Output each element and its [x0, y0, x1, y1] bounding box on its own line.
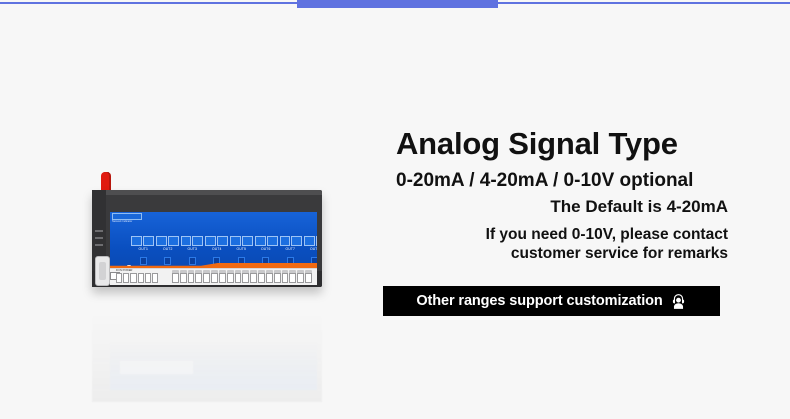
- status-led-1: [95, 230, 103, 232]
- terminal-pin: [258, 273, 265, 283]
- terminal-pin: [274, 273, 281, 283]
- output-label: OUT8: [303, 247, 318, 252]
- terminal-band: DI IN POWER: [110, 268, 317, 285]
- output-label: OUT6: [254, 247, 279, 252]
- customer-service-agent-icon: [670, 293, 687, 310]
- output-label-row: OUT1 OUT2 OUT3 OUT4 OUT5 OUT6 OUT7 OUT8: [131, 247, 317, 252]
- relay-terminal-pair: [131, 236, 154, 246]
- terminal-pin: [250, 273, 257, 283]
- terminal-pin: [116, 273, 122, 283]
- contact-note-line-1: If you need 0-10V, please contact: [383, 225, 728, 244]
- output-label: OUT3: [180, 247, 205, 252]
- relay-terminal-pair: [156, 236, 179, 246]
- relay-terminal-pair: [230, 236, 253, 246]
- relay-terminal: [304, 236, 315, 246]
- output-label: OUT4: [205, 247, 230, 252]
- output-label: OUT2: [156, 247, 181, 252]
- relay-terminal: [192, 236, 203, 246]
- io-terminal-row: [172, 273, 312, 283]
- power-terminal-group: [116, 273, 158, 283]
- status-led-3: [95, 244, 103, 246]
- device-reflection: [92, 310, 322, 402]
- page-title: Analog Signal Type: [383, 126, 728, 162]
- relay-terminal-pair: [181, 236, 204, 246]
- relay-terminal: [242, 236, 253, 246]
- relay-terminal-pair: [255, 236, 278, 246]
- signal-options-line: 0-20mA / 4-20mA / 0-10V optional: [383, 168, 728, 194]
- relay-terminal: [143, 236, 154, 246]
- terminal-pin: [242, 273, 249, 283]
- terminal-pin: [130, 273, 136, 283]
- terminal-pin: [152, 273, 158, 283]
- device-chassis: Network Indicator OUT1 OUT2: [92, 190, 322, 287]
- output-label: OUT5: [229, 247, 254, 252]
- relay-terminal: [280, 236, 291, 246]
- relay-terminal: [217, 236, 228, 246]
- relay-led: [140, 257, 147, 265]
- product-photo: Network Indicator OUT1 OUT2: [0, 20, 395, 419]
- top-accent-rule-segment: [297, 0, 498, 8]
- product-feature-banner: Network Indicator OUT1 OUT2: [0, 0, 790, 419]
- relay-terminal-pair: [304, 236, 317, 246]
- terminal-pin: [195, 273, 202, 283]
- device-faceplate: Network Indicator OUT1 OUT2: [110, 212, 317, 268]
- relay-terminal: [316, 236, 317, 246]
- antenna-icon: [101, 172, 111, 192]
- chassis-top-bevel: [92, 190, 322, 195]
- relay-terminal: [181, 236, 192, 246]
- terminal-pin: [297, 273, 304, 283]
- terminal-pin: [235, 273, 242, 283]
- relay-terminal-pair: [205, 236, 228, 246]
- relay-terminal: [205, 236, 216, 246]
- relay-terminal-pair: [280, 236, 303, 246]
- db9-serial-port: [95, 256, 110, 286]
- relay-terminal: [291, 236, 302, 246]
- device-module: Network Indicator OUT1 OUT2: [92, 172, 322, 287]
- relay-terminal: [156, 236, 167, 246]
- customization-banner: Other ranges support customization: [383, 286, 720, 316]
- customization-banner-label: Other ranges support customization: [416, 293, 662, 309]
- relay-led: [189, 257, 196, 265]
- terminal-pin: [305, 273, 312, 283]
- terminal-left-label: DI IN POWER: [116, 269, 132, 272]
- terminal-pin: [138, 273, 144, 283]
- relay-terminal: [230, 236, 241, 246]
- terminal-pin: [289, 273, 296, 283]
- relay-led: [164, 257, 171, 265]
- output-label: OUT7: [278, 247, 303, 252]
- status-led-2: [95, 237, 103, 239]
- terminal-pin: [227, 273, 234, 283]
- network-indicator-strip: [112, 213, 142, 220]
- terminal-pin: [219, 273, 226, 283]
- terminal-pin: [203, 273, 210, 283]
- terminal-pin: [145, 273, 151, 283]
- terminal-pin: [172, 273, 179, 283]
- output-label: OUT1: [131, 247, 156, 252]
- relay-terminal: [255, 236, 266, 246]
- reflection-model-badge: [120, 361, 193, 374]
- relay-terminal-row: [131, 236, 317, 246]
- default-signal-line: The Default is 4-20mA: [383, 195, 728, 219]
- terminal-pin: [123, 273, 129, 283]
- relay-led-cell: [156, 257, 181, 265]
- relay-terminal: [168, 236, 179, 246]
- relay-terminal: [267, 236, 278, 246]
- terminal-pin: [180, 273, 187, 283]
- contact-note-line-2: customer service for remarks: [383, 244, 728, 263]
- copy-block: Analog Signal Type 0-20mA / 4-20mA / 0-1…: [383, 126, 728, 263]
- relay-led-cell: [131, 257, 156, 265]
- terminal-pin: [282, 273, 289, 283]
- relay-led-cell: [180, 257, 205, 265]
- terminal-pin: [188, 273, 195, 283]
- relay-terminal: [131, 236, 142, 246]
- network-indicator-caption: Network Indicator: [112, 220, 144, 223]
- terminal-pin: [266, 273, 273, 283]
- terminal-pin: [211, 273, 218, 283]
- db9-pin-area: [99, 262, 106, 280]
